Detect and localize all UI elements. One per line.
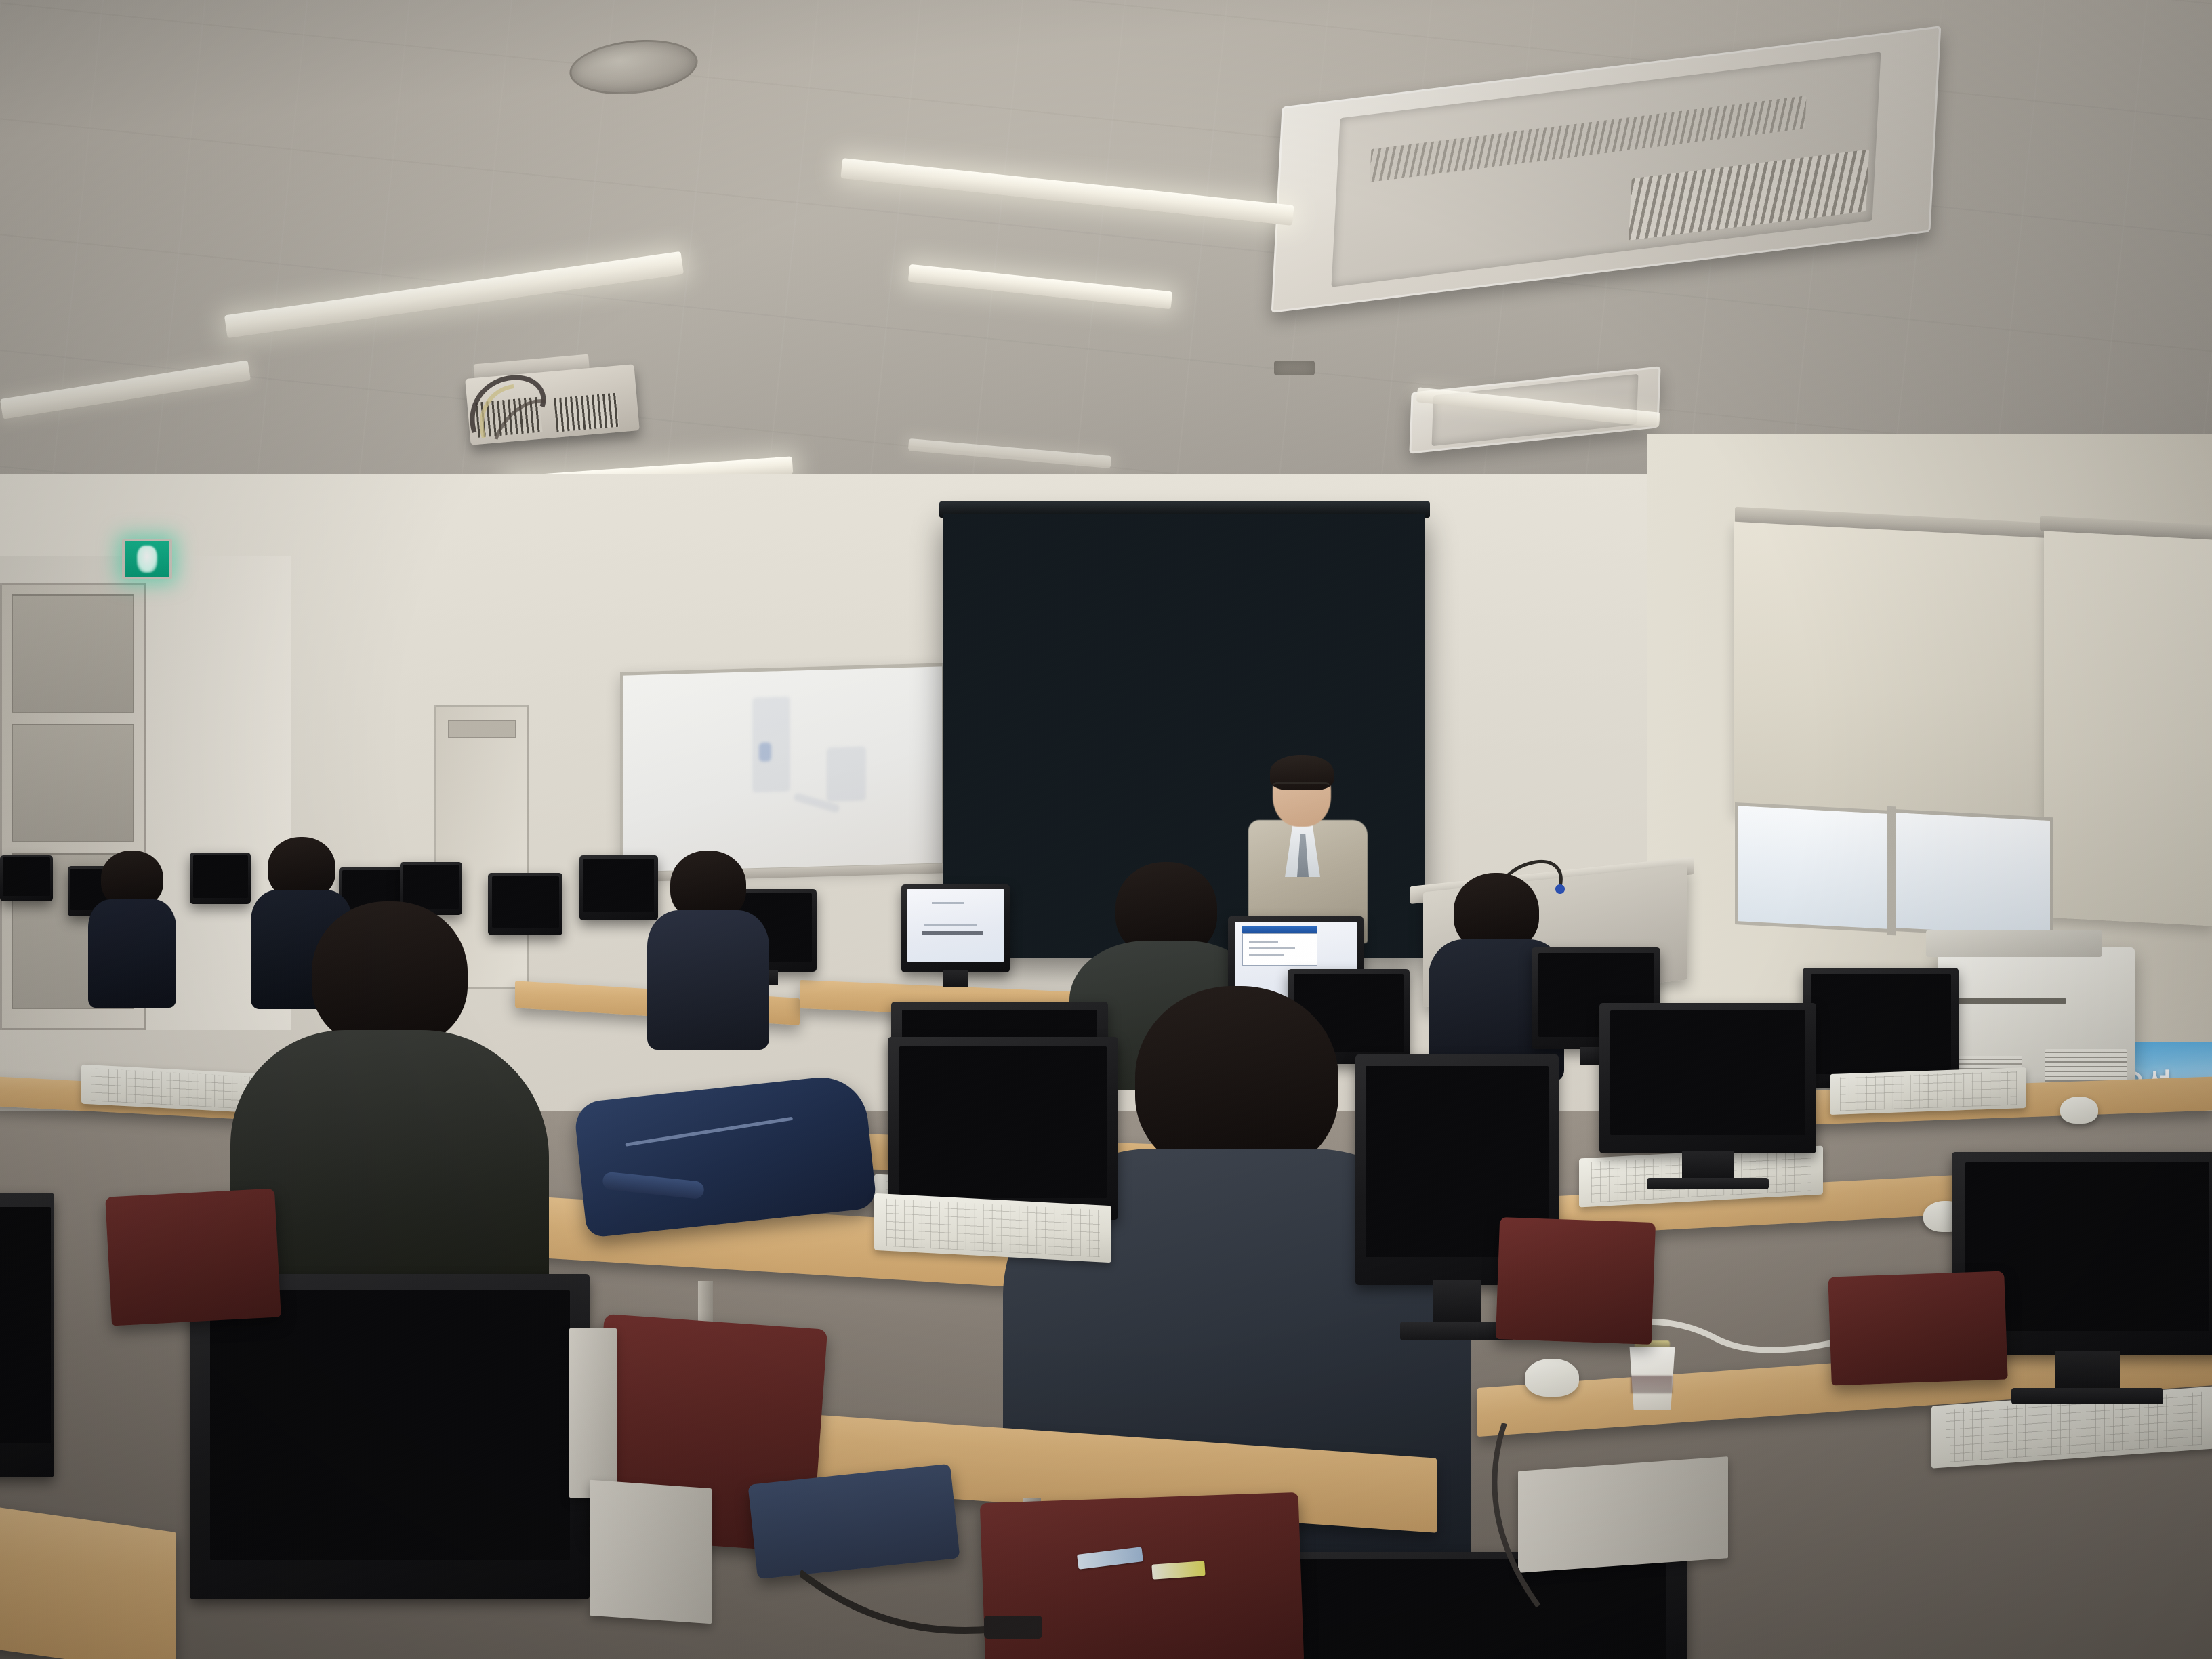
roller-blind-left[interactable] <box>1734 522 2052 830</box>
monitor-base <box>1647 1178 1768 1190</box>
monitor-back-3 <box>190 853 251 904</box>
keyboard-keys <box>1840 1071 2017 1111</box>
monitor-stand <box>1433 1280 1481 1322</box>
monitor-base <box>2011 1388 2163 1404</box>
student-torso <box>88 899 176 1008</box>
mouse-right-back[interactable] <box>2060 1097 2098 1124</box>
screen-text-line <box>1249 941 1279 943</box>
monitor-row2-2 <box>579 855 658 920</box>
door-sign-plate <box>448 720 516 738</box>
printer-output-slot <box>1950 998 2066 1004</box>
window-titlebar <box>1242 926 1318 934</box>
ceiling-vent-small <box>1274 361 1315 375</box>
whiteboard-smudge-2 <box>759 742 771 762</box>
emergency-exit-sign <box>122 539 172 579</box>
door-pane-mid <box>12 724 134 842</box>
monitor-stand <box>1682 1151 1734 1178</box>
screen-text-line <box>924 924 977 926</box>
chair-right-mid[interactable] <box>1496 1217 1656 1345</box>
screen-text-line <box>932 902 963 904</box>
student-head <box>312 901 468 1048</box>
screen-text-line <box>1249 947 1295 949</box>
whiteboard-smudge-1 <box>752 697 790 793</box>
screen-text-line <box>1249 954 1285 956</box>
keyboard-keys <box>886 1198 1100 1257</box>
door-pane-top <box>12 594 134 713</box>
monitor-back-1 <box>0 855 53 901</box>
window-body <box>1242 933 1318 966</box>
presenter-glasses <box>1273 782 1330 793</box>
monitor-stand <box>943 970 968 986</box>
projector-cables <box>461 358 576 446</box>
monitor-row2-3-on <box>901 884 1010 972</box>
monitor-right-mid <box>1599 1003 1816 1153</box>
window-pane-right <box>1891 809 2053 940</box>
printer-scanner-lid <box>1926 930 2102 957</box>
window-mullion <box>1887 806 1896 936</box>
monitor-stand <box>2055 1351 2120 1388</box>
whiteboard-smudge-3 <box>827 747 866 802</box>
whiteboard <box>620 663 945 875</box>
monitor-foreground-left <box>190 1274 590 1599</box>
student-row2-left <box>647 851 769 1047</box>
monitor-foreground-far-left <box>0 1193 54 1477</box>
backpack-strap <box>602 1172 705 1200</box>
student-back-left-1 <box>88 851 176 1006</box>
chair-back-left-small[interactable] <box>105 1189 281 1326</box>
student-torso <box>647 910 769 1050</box>
exit-running-man-icon <box>137 546 157 573</box>
student-head <box>1135 986 1338 1176</box>
mouse-center[interactable] <box>1525 1359 1579 1397</box>
chair-right-front[interactable] <box>1828 1271 2007 1386</box>
backpack-zipper <box>625 1117 793 1147</box>
pc-tower-center <box>569 1328 617 1498</box>
keyboard-right-back[interactable] <box>1830 1067 2026 1115</box>
floor-cable-center <box>800 1545 1057 1654</box>
floor-cable-right <box>1477 1423 1681 1626</box>
roller-blind-right[interactable] <box>2044 531 2212 926</box>
screen-text-line <box>922 931 983 935</box>
monitor-front-left-big <box>888 1037 1118 1220</box>
window-pane-left <box>1735 802 1891 933</box>
classroom-photo: ① 기술개발의 필요성 정보의 도청, 위변조 및 재사용 바이러스 공격, 악… <box>0 0 2212 1659</box>
pc-tower-foreground <box>590 1480 712 1624</box>
